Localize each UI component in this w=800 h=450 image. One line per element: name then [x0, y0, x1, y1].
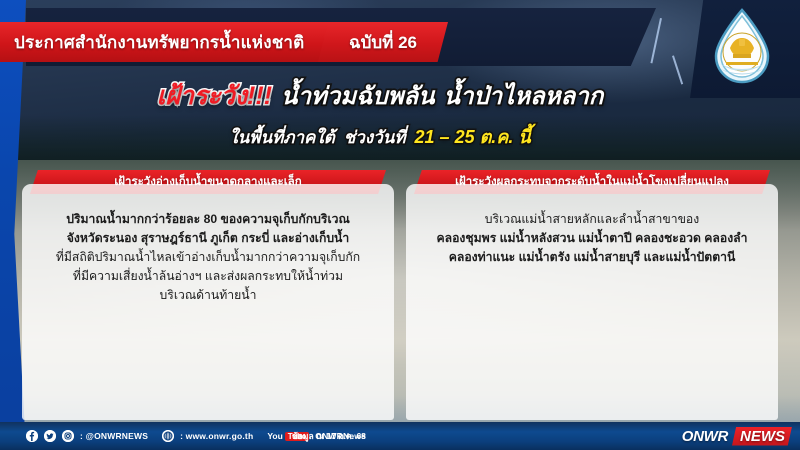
- headline-area: ในพื้นที่ภาคใต้: [229, 124, 334, 151]
- data-date-text: ข้อมูล ณ 17 ต.ค. 68: [292, 429, 366, 443]
- panel-reservoir-watch-body: ปริมาณน้ำมากกว่าร้อยละ 80 ของความจุเก็บก…: [22, 184, 394, 420]
- logo-news-text: NEWS: [732, 427, 792, 446]
- headline-runoff: น้ำป่าไหลหลาก: [444, 76, 604, 115]
- panel-reservoir-watch: เฝ้าระวังอ่างเก็บน้ำขนาดกลางและเล็ก ปริม…: [22, 170, 394, 420]
- alert-keyword: เฝ้าระวัง!!!: [157, 76, 272, 116]
- panel-line: บริเวณด้านท้ายน้ำ: [32, 286, 384, 305]
- youtube-you-text: You: [267, 431, 282, 441]
- panel-line: จังหวัดระนอง สุราษฎร์ธานี ภูเก็ต กระบี่ …: [32, 229, 384, 248]
- panel-line: ที่มีสถิติปริมาณน้ำไหลเข้าอ่างเก็บน้ำมาก…: [32, 248, 384, 267]
- panel-river-level-watch: เฝ้าระวังผลกระทบจากระดับน้ำในแม่น้ำโขงเป…: [406, 170, 778, 420]
- globe-icon[interactable]: [162, 430, 174, 442]
- headline-date-range: 21 – 25 ต.ค. นี้: [415, 122, 531, 151]
- twitter-icon[interactable]: [44, 430, 56, 442]
- announcement-title: ประกาศสำนักงานทรัพยากรน้ำแห่งชาติ: [0, 29, 304, 56]
- headline-flashflood: น้ำท่วมฉับพลัน: [281, 76, 435, 115]
- footer-bar: : @ONWRNEWS : www.onwr.go.th You Tube ON…: [0, 422, 800, 450]
- facebook-icon[interactable]: [26, 430, 38, 442]
- onwr-news-logo: ONWR NEWS: [682, 427, 792, 446]
- headline-period-label: ช่วงวันที่: [344, 124, 406, 151]
- website-text[interactable]: : www.onwr.go.th: [180, 431, 253, 441]
- instagram-icon[interactable]: [62, 430, 74, 442]
- content-panels: เฝ้าระวังอ่างเก็บน้ำขนาดกลางและเล็ก ปริม…: [22, 170, 778, 420]
- lightning-bolt-icon: [650, 18, 662, 63]
- panel-line: ที่มีความเสี่ยงน้ำล้นอ่างฯ และส่งผลกระทบ…: [32, 267, 384, 286]
- issue-number-badge: ฉบับที่ 26: [318, 22, 448, 62]
- panel-river-level-watch-body: บริเวณแม่น้ำสายหลักและลำน้ำสาขาของ คลองช…: [406, 184, 778, 420]
- logo-onwr-text: ONWR: [682, 428, 728, 445]
- headline-block: เฝ้าระวัง!!! น้ำท่วมฉับพลัน น้ำป่าไหลหลา…: [0, 76, 760, 151]
- infographic-root: ประกาศสำนักงานทรัพยากรน้ำแห่งชาติ ฉบับที…: [0, 0, 800, 450]
- panel-line: ปริมาณน้ำมากกว่าร้อยละ 80 ของความจุเก็บก…: [32, 210, 384, 229]
- panel-line: คลองท่าแนะ แม่น้ำตรัง แม่น้ำสายบุรี และแ…: [416, 248, 768, 267]
- social-handle-text: : @ONWRNEWS: [80, 431, 148, 441]
- panel-line: คลองชุมพร แม่น้ำหลังสวน แม่น้ำตาปี คลองช…: [416, 229, 768, 248]
- panel-line: บริเวณแม่น้ำสายหลักและลำน้ำสาขาของ: [416, 210, 768, 229]
